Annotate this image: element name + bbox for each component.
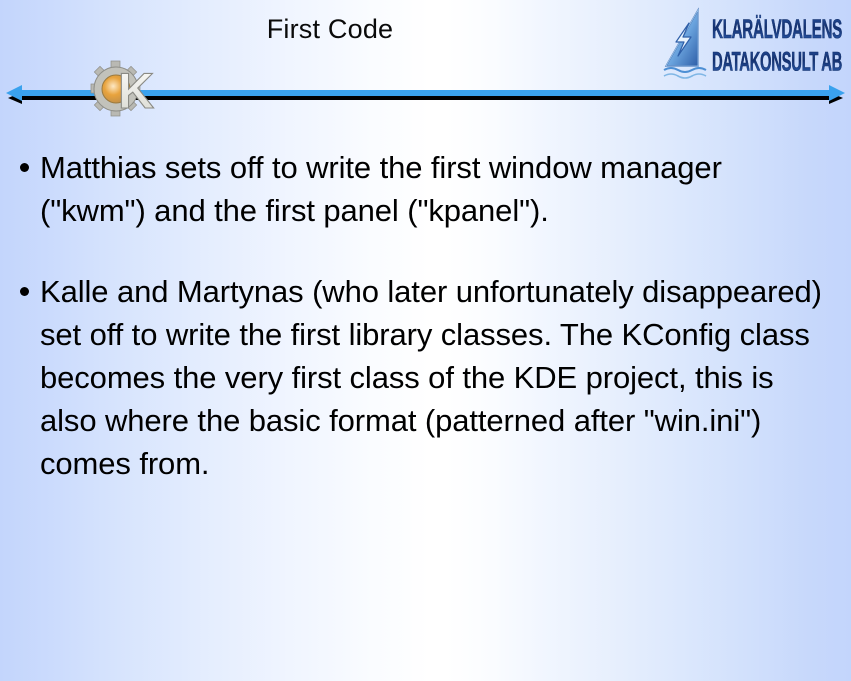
kdab-logo-line1: KLARÄLVDALENS xyxy=(712,13,842,44)
bullet-text: Matthias sets off to write the first win… xyxy=(40,146,834,232)
slide-body: Matthias sets off to write the first win… xyxy=(14,146,834,485)
kde-gear-k-icon: K xyxy=(88,58,156,122)
sail-lightning-icon xyxy=(664,10,706,78)
kde-logo-letter: K xyxy=(118,63,154,119)
page-title: First Code xyxy=(0,13,660,45)
slide-header: First Code xyxy=(0,0,851,104)
slide-canvas: First Code xyxy=(0,0,851,681)
bullet-dot-icon xyxy=(20,163,29,172)
bullet-list-item: Matthias sets off to write the first win… xyxy=(14,146,834,232)
kdab-logo-line2: DATAKONSULT AB xyxy=(712,45,842,76)
bullet-list-item: Kalle and Martynas (who later unfortunat… xyxy=(14,270,834,485)
kdab-company-logo: KLARÄLVDALENS DATAKONSULT AB xyxy=(658,6,846,82)
bullet-text: Kalle and Martynas (who later unfortunat… xyxy=(40,270,834,485)
bullet-dot-icon xyxy=(20,287,29,296)
